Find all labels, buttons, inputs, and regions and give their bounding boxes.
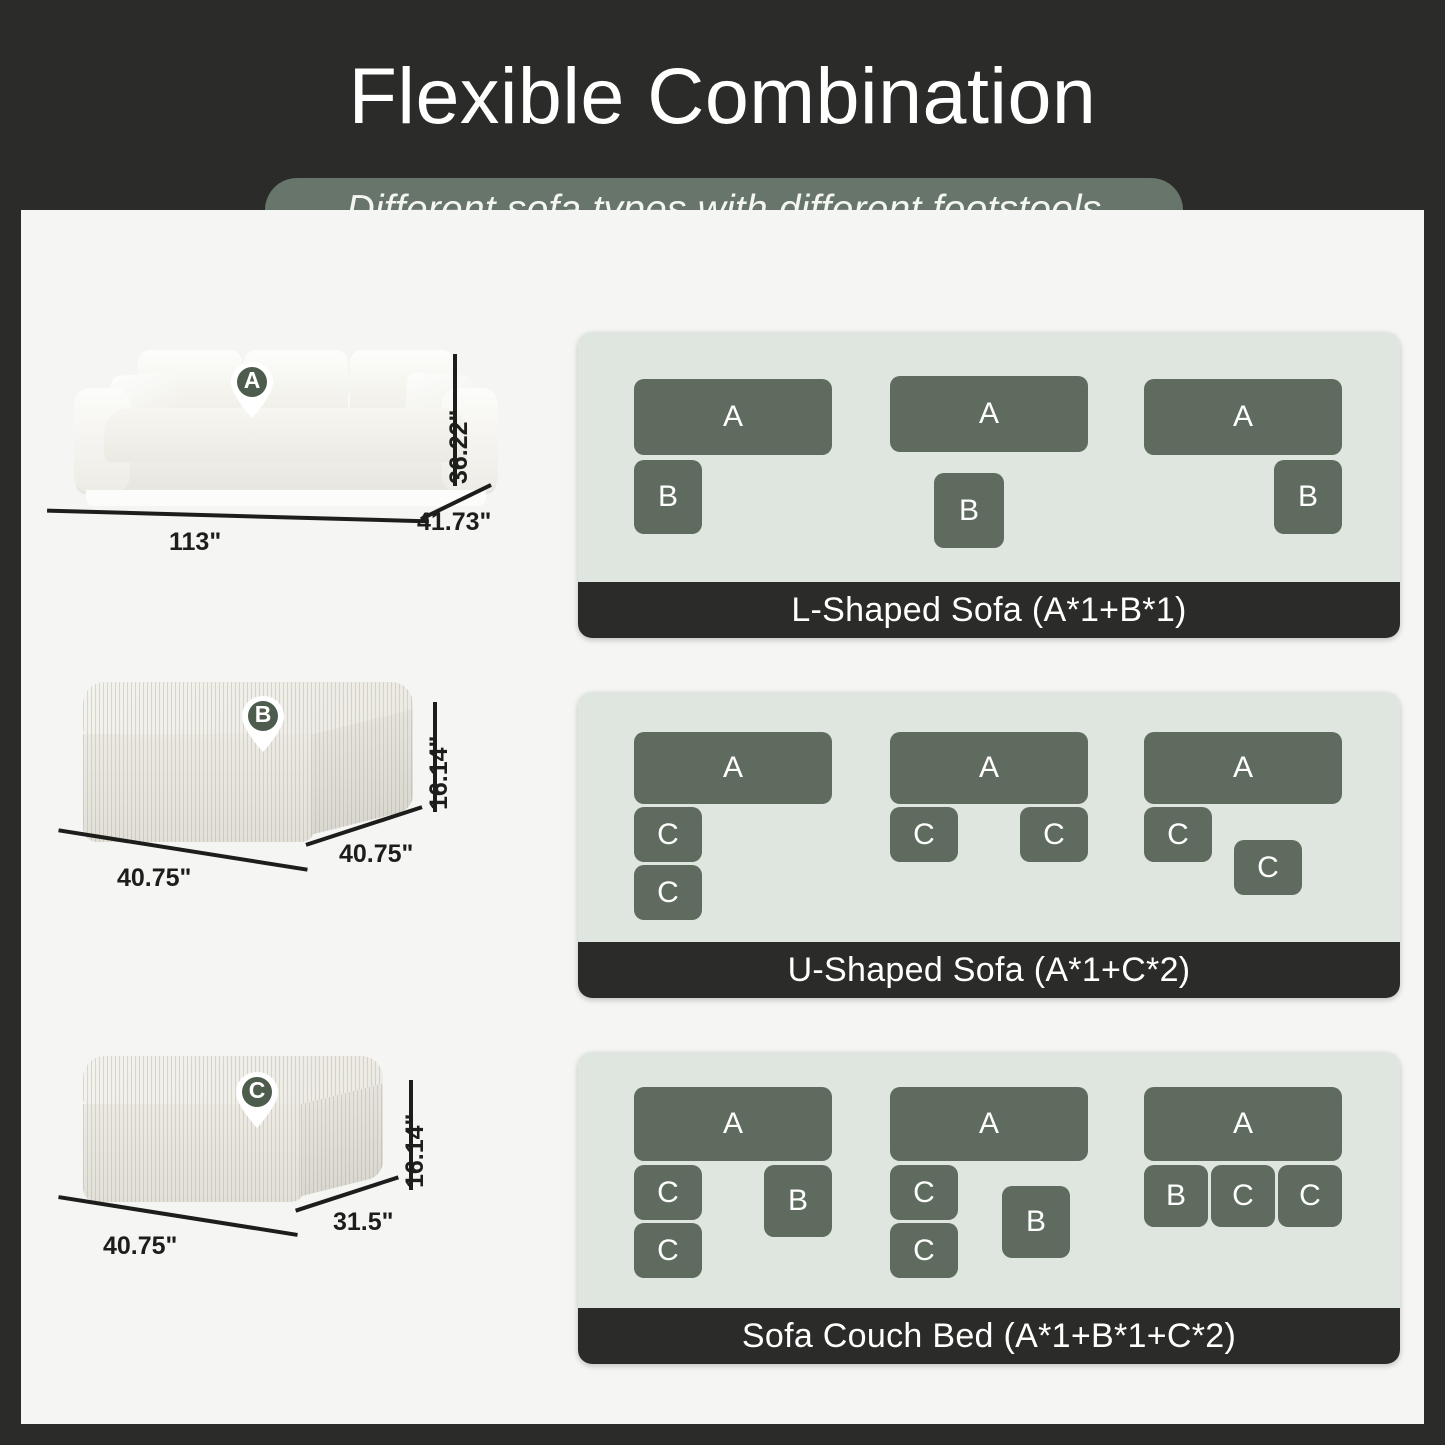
module-block-c[interactable]: C bbox=[634, 1165, 702, 1220]
module-block-c[interactable]: C bbox=[890, 1165, 958, 1220]
marker-pin-c: C bbox=[233, 1070, 281, 1130]
marker-pin-b: B bbox=[239, 694, 287, 754]
module-block-b[interactable]: B bbox=[634, 460, 702, 534]
combination-panel-u-shaped[interactable]: ACCACCACC U-Shaped Sofa (A*1+C*2) bbox=[578, 692, 1400, 998]
content-sheet: A 36.22" 113" 41.73" bbox=[21, 210, 1424, 1424]
combination-panel-l-shaped[interactable]: ABABAB L-Shaped Sofa (A*1+B*1) bbox=[578, 332, 1400, 638]
module-block-c[interactable]: C bbox=[634, 807, 702, 862]
module-block-c[interactable]: C bbox=[1144, 807, 1212, 862]
dim-depth-b: 40.75" bbox=[339, 840, 413, 869]
panel-label: Sofa Couch Bed (A*1+B*1+C*2) bbox=[742, 1317, 1236, 1356]
module-block-a[interactable]: A bbox=[634, 379, 832, 455]
module-block-b[interactable]: B bbox=[764, 1165, 832, 1237]
panel-label-bar: Sofa Couch Bed (A*1+B*1+C*2) bbox=[578, 1308, 1400, 1364]
module-block-a[interactable]: A bbox=[890, 732, 1088, 804]
module-block-c[interactable]: C bbox=[1278, 1165, 1342, 1227]
module-block-b[interactable]: B bbox=[1002, 1186, 1070, 1258]
dim-width-a: 113" bbox=[169, 528, 221, 557]
infographic-root: Flexible Combination Different sofa type… bbox=[0, 0, 1445, 1445]
ottoman-b-illustration: B 16.14" 40.75" 40.75" bbox=[21, 672, 581, 1032]
module-block-b[interactable]: B bbox=[1144, 1165, 1208, 1227]
module-block-a[interactable]: A bbox=[1144, 732, 1342, 804]
panel-label: U-Shaped Sofa (A*1+C*2) bbox=[788, 951, 1191, 990]
panel-label-bar: U-Shaped Sofa (A*1+C*2) bbox=[578, 942, 1400, 998]
panel-body: ACCACCACC bbox=[578, 692, 1400, 942]
module-block-c[interactable]: C bbox=[634, 1223, 702, 1278]
dim-height-b: 16.14" bbox=[425, 736, 454, 810]
module-block-a[interactable]: A bbox=[1144, 1087, 1342, 1161]
dim-depth-a: 41.73" bbox=[417, 508, 491, 537]
marker-letter-b: B bbox=[239, 703, 287, 726]
dim-height-a: 36.22" bbox=[445, 410, 474, 484]
dim-width-b: 40.75" bbox=[117, 864, 191, 893]
module-block-a[interactable]: A bbox=[634, 732, 832, 804]
ottoman-c-illustration: C 16.14" 40.75" 31.5" bbox=[21, 1042, 581, 1402]
panel-label-bar: L-Shaped Sofa (A*1+B*1) bbox=[578, 582, 1400, 638]
dim-width-c: 40.75" bbox=[103, 1232, 177, 1261]
module-block-c[interactable]: C bbox=[890, 1223, 958, 1278]
dim-depth-c: 31.5" bbox=[333, 1208, 394, 1237]
sofa-illustration: A 36.22" 113" 41.73" bbox=[21, 332, 581, 692]
marker-pin-a: A bbox=[228, 360, 276, 420]
dim-height-c: 16.14" bbox=[401, 1114, 430, 1188]
product-photo-a: A 36.22" 113" 41.73" bbox=[21, 332, 581, 692]
module-block-b[interactable]: B bbox=[934, 473, 1004, 548]
panel-body: ABABAB bbox=[578, 332, 1400, 582]
combination-panel-sofa-couch-bed[interactable]: ACCBACCBABCC Sofa Couch Bed (A*1+B*1+C*2… bbox=[578, 1052, 1400, 1364]
product-photo-b: B 16.14" 40.75" 40.75" bbox=[21, 672, 581, 1032]
module-block-c[interactable]: C bbox=[1211, 1165, 1275, 1227]
marker-letter-c: C bbox=[233, 1079, 281, 1102]
module-block-c[interactable]: C bbox=[634, 865, 702, 920]
module-block-a[interactable]: A bbox=[634, 1087, 832, 1161]
module-block-b[interactable]: B bbox=[1274, 460, 1342, 534]
product-photo-c: C 16.14" 40.75" 31.5" bbox=[21, 1042, 581, 1402]
marker-letter-a: A bbox=[228, 369, 276, 392]
module-block-a[interactable]: A bbox=[890, 376, 1088, 452]
module-block-c[interactable]: C bbox=[1020, 807, 1088, 862]
module-block-a[interactable]: A bbox=[1144, 379, 1342, 455]
panel-body: ACCBACCBABCC bbox=[578, 1052, 1400, 1308]
module-block-c[interactable]: C bbox=[890, 807, 958, 862]
module-block-c[interactable]: C bbox=[1234, 840, 1302, 895]
page-title: Flexible Combination bbox=[0, 56, 1445, 135]
module-block-a[interactable]: A bbox=[890, 1087, 1088, 1161]
panel-label: L-Shaped Sofa (A*1+B*1) bbox=[791, 591, 1186, 630]
